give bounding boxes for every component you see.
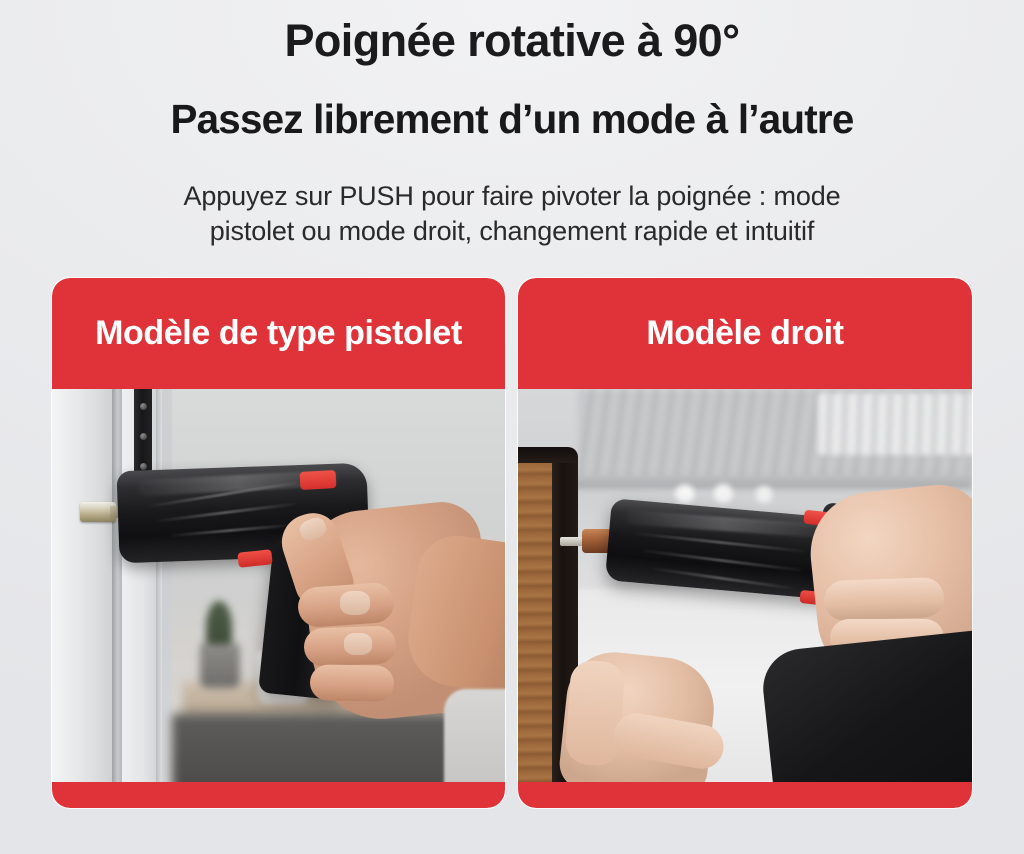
- panel-straight-caption-bottom: Modèle droit: [518, 782, 972, 808]
- door-frame-edge: [156, 389, 162, 782]
- panel-straight-mode: Modèle droit: [518, 278, 972, 808]
- panel-pistol-mode: Modèle de type pistolet: [52, 278, 505, 808]
- support-hand-thumb: [564, 659, 625, 767]
- page-subtitle: Passez librement d’un mode à l’autre: [8, 63, 1017, 140]
- door-frame-outer: [52, 389, 112, 782]
- plant-pot-dark: [200, 644, 240, 688]
- page-title: Poignée rotative à 90°: [0, 0, 1024, 63]
- panel-straight-photo: [518, 389, 972, 782]
- red-accent-top: [300, 470, 337, 490]
- page-description: Appuyez sur PUSH pour faire pivoter la p…: [72, 140, 952, 249]
- black-sleeve: [759, 626, 972, 782]
- hinge-screw-2: [140, 433, 147, 440]
- trouser-blur: [444, 689, 505, 782]
- wood-panel-top-cap: [518, 447, 578, 463]
- panel-pistol-caption-top: Modèle de type pistolet: [52, 278, 505, 389]
- background-highlights: [668, 481, 788, 507]
- shelf-panel-blur: [818, 393, 972, 455]
- panel-pistol-caption-top-label: Modèle de type pistolet: [83, 315, 474, 351]
- description-line-2: pistolet ou mode droit, changement rapid…: [72, 214, 952, 249]
- hinge-screw-3: [140, 463, 147, 470]
- product-feature-banner: Poignée rotative à 90° Passez librement …: [0, 0, 1024, 854]
- description-line-1: Appuyez sur PUSH pour faire pivoter la p…: [72, 179, 952, 214]
- panel-straight-caption-top-label: Modèle droit: [634, 315, 855, 351]
- hinge-screw-1: [140, 403, 147, 410]
- hand-finger-3: [310, 664, 395, 701]
- panel-pistol-photo: [52, 389, 505, 782]
- panel-pistol-caption-bottom: Modèle de type pistolet: [52, 782, 505, 808]
- heading-block: Poignée rotative à 90° Passez librement …: [0, 0, 1024, 249]
- panel-straight-caption-top: Modèle droit: [518, 278, 972, 389]
- door-frame-reveal: [112, 389, 122, 782]
- finger-nail-2: [344, 633, 372, 655]
- finger-nail-1: [340, 591, 370, 615]
- wood-panel: [518, 451, 552, 782]
- hand-finger-1: [823, 577, 944, 621]
